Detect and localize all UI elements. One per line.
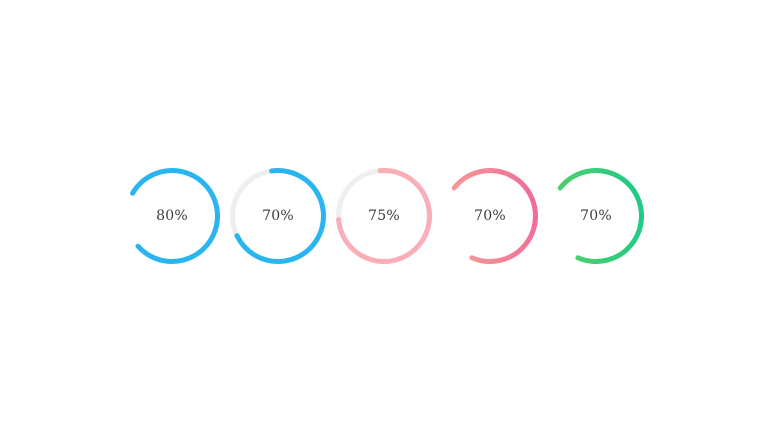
ring-percent-label: 70% — [580, 209, 612, 223]
ring-percent-label: 70% — [262, 209, 294, 223]
progress-ring-2: 70% — [228, 166, 328, 266]
progress-ring-5: 70% — [546, 166, 646, 266]
ring-percent-label: 80% — [156, 209, 188, 223]
progress-ring-4: 70% — [440, 166, 540, 266]
progress-ring-3: 75% — [334, 166, 434, 266]
ring-percent-label: 70% — [474, 209, 506, 223]
ring-percent-label: 75% — [368, 209, 400, 223]
progress-ring-board: 80%70%75%70%70% — [0, 0, 768, 432]
progress-ring-1: 80% — [122, 166, 222, 266]
